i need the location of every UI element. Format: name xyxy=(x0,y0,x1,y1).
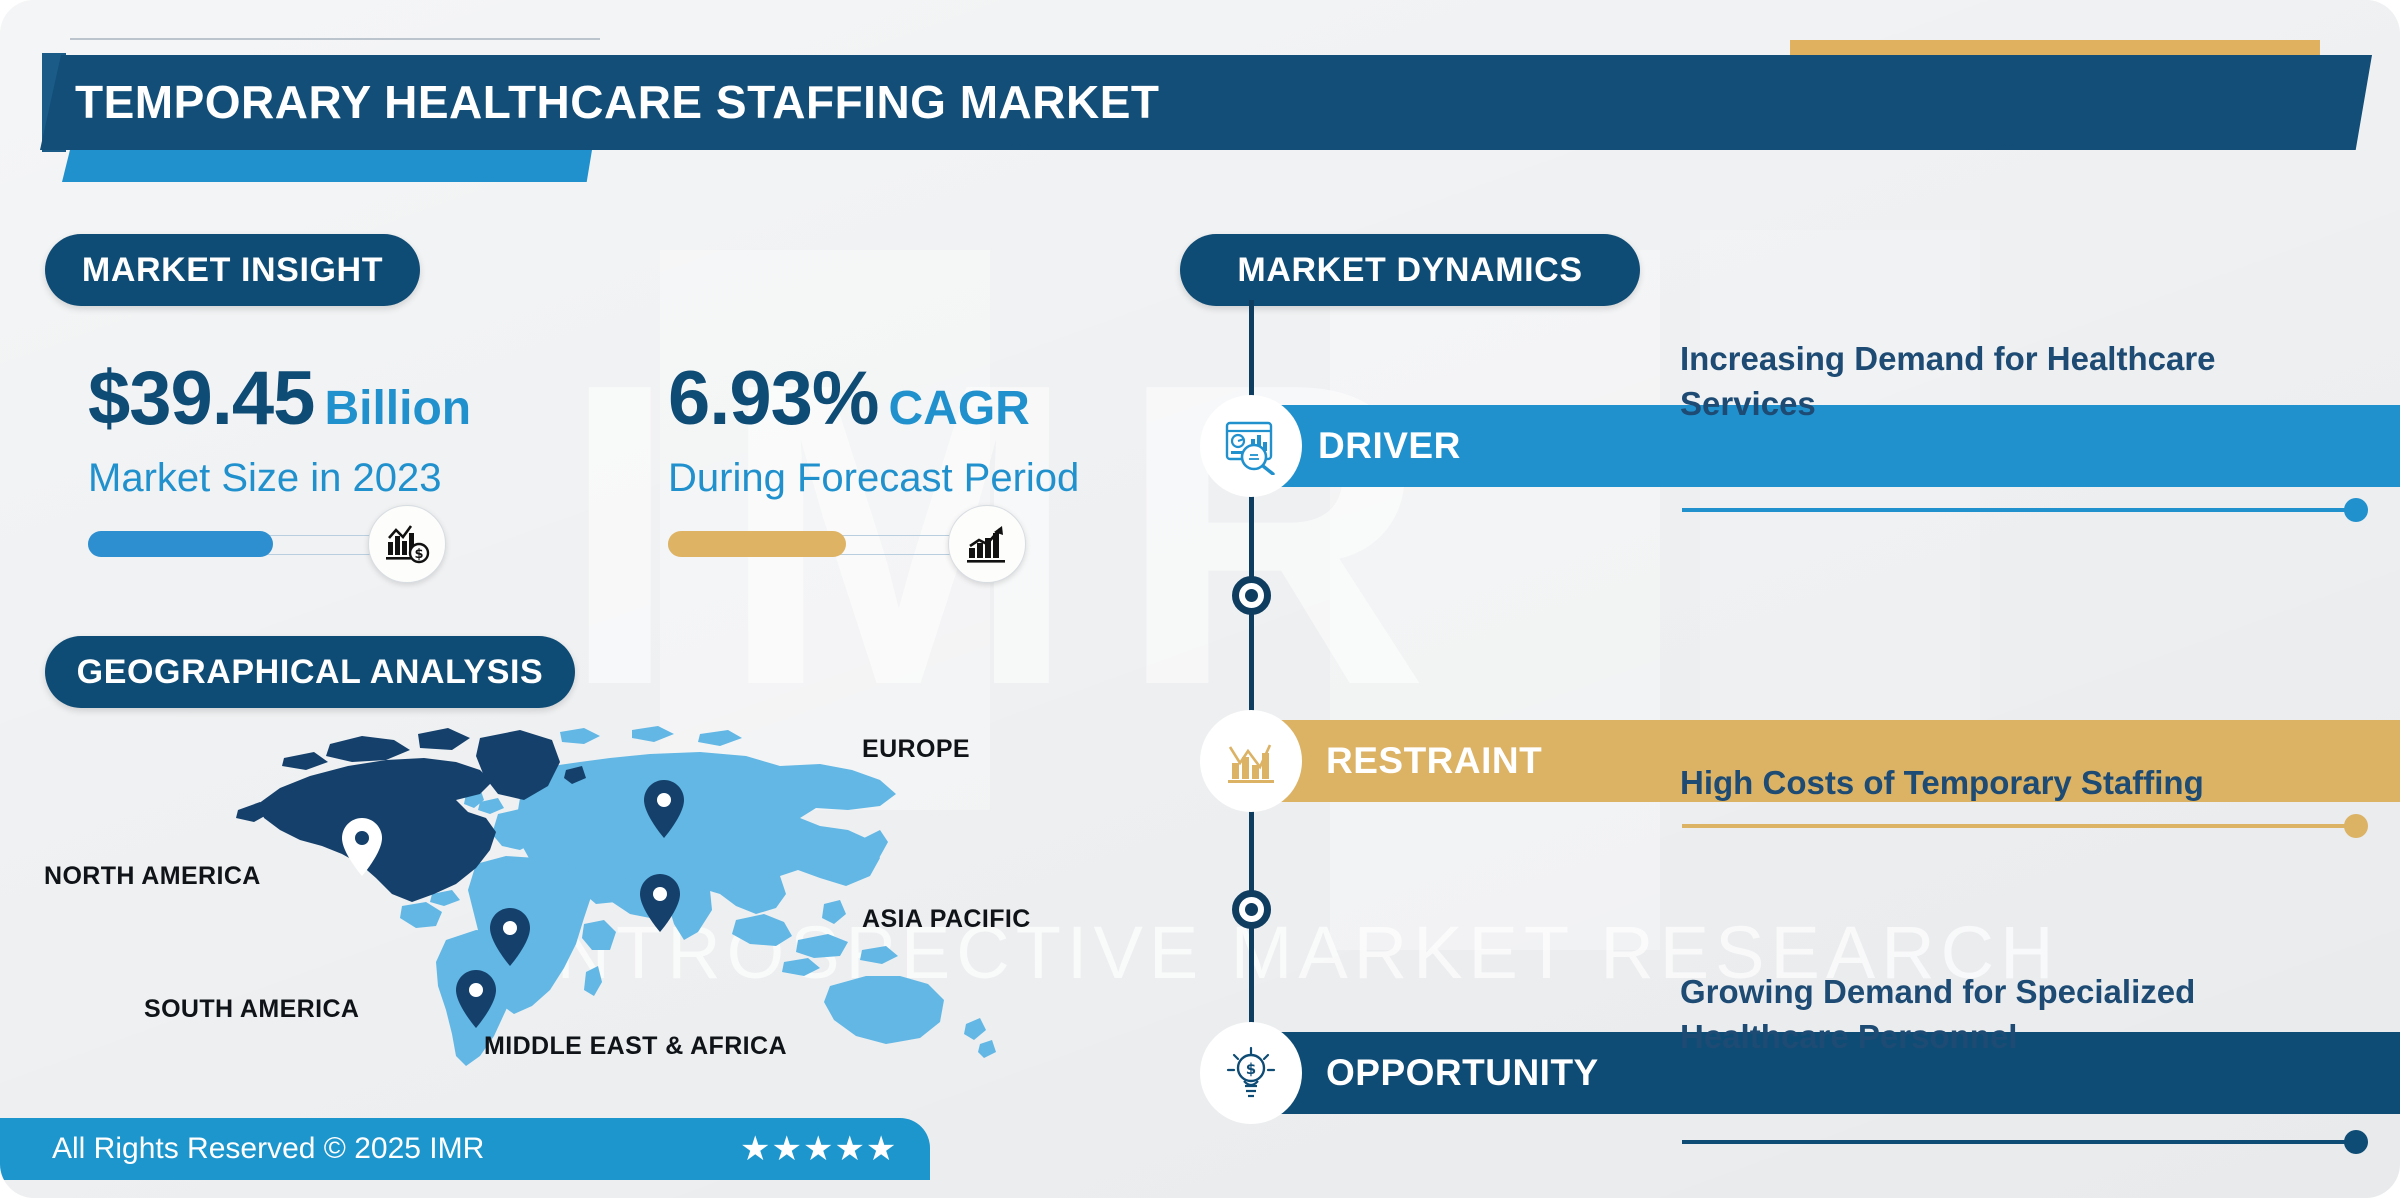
driver-type-label: DRIVER xyxy=(1318,405,1461,487)
background-band-far-right xyxy=(1700,230,1980,770)
stat-caption: Market Size in 2023 xyxy=(88,456,471,501)
driver-leader-dot xyxy=(2344,498,2368,522)
map-label-middle-east-africa: MIDDLE EAST & AFRICA xyxy=(484,1032,787,1061)
stat-unit: Billion xyxy=(324,382,471,435)
header-accent-bar xyxy=(62,150,592,182)
section-label-market-insight: MARKET INSIGHT xyxy=(45,234,420,306)
section-label-geographical-analysis: GEOGRAPHICAL ANALYSIS xyxy=(45,636,575,708)
background-band-right xyxy=(1330,250,1660,950)
restraint-description: High Costs of Temporary Staffing xyxy=(1680,761,2320,806)
driver-description: Increasing Demand for Healthcare Service… xyxy=(1680,337,2320,426)
stat-value: 6.93% xyxy=(668,356,879,441)
stat-headline: $39.45Billion xyxy=(88,355,471,442)
infographic-canvas: IMR INTROSPECTIVE MARKET RESEARCH TEMPOR… xyxy=(0,0,2400,1198)
lightbulb-dollar-icon: $ xyxy=(1200,1022,1302,1124)
opportunity-leader-dot xyxy=(2344,1130,2368,1154)
opportunity-description: Growing Demand for Specialized Healthcar… xyxy=(1680,970,2320,1059)
stat-unit: CAGR xyxy=(889,382,1030,435)
declining-bar-chart-icon xyxy=(1200,710,1302,812)
footer-bar: All Rights Reserved © 2025 IMR ★★★★★ xyxy=(0,1118,930,1180)
rating-stars-icon: ★★★★★ xyxy=(740,1118,897,1180)
section-label-market-dynamics: MARKET DYNAMICS xyxy=(1180,234,1640,306)
restraint-type-label: RESTRAINT xyxy=(1326,720,1542,802)
header-rule xyxy=(70,38,600,40)
meter-fill xyxy=(668,531,846,557)
dashboard-magnifier-icon xyxy=(1200,395,1302,497)
map-label-south-america: SOUTH AMERICA xyxy=(144,995,359,1024)
stat-meter: $ xyxy=(88,531,398,557)
opportunity-leader-line xyxy=(1682,1140,2354,1144)
stat-value: $39.45 xyxy=(88,356,314,441)
spine-node-2 xyxy=(1232,890,1271,929)
meter-fill xyxy=(88,531,273,557)
stat-headline: 6.93%CAGR xyxy=(668,355,1079,442)
map-label-north-america: NORTH AMERICA xyxy=(44,862,261,891)
restraint-leader-line xyxy=(1682,824,2354,828)
growth-arrow-chart-icon xyxy=(948,505,1026,583)
spine-node-1 xyxy=(1232,576,1271,615)
stat-meter xyxy=(668,531,978,557)
svg-text:$: $ xyxy=(1246,1060,1256,1078)
stat-market-size: $39.45Billion Market Size in 2023 $ xyxy=(88,355,471,557)
page-title: TEMPORARY HEALTHCARE STAFFING MARKET xyxy=(75,55,1160,150)
driver-leader-line xyxy=(1682,508,2354,512)
map-label-europe: EUROPE xyxy=(862,735,970,764)
opportunity-type-label: OPPORTUNITY xyxy=(1326,1032,1599,1114)
footer-copyright: All Rights Reserved © 2025 IMR xyxy=(52,1118,484,1180)
stat-cagr: 6.93%CAGR During Forecast Period xyxy=(668,355,1079,557)
map-label-asia-pacific: ASIA PACIFIC xyxy=(862,905,1031,934)
svg-text:$: $ xyxy=(414,547,423,562)
bar-chart-dollar-icon: $ xyxy=(368,505,446,583)
restraint-leader-dot xyxy=(2344,814,2368,838)
stat-caption: During Forecast Period xyxy=(668,456,1079,501)
